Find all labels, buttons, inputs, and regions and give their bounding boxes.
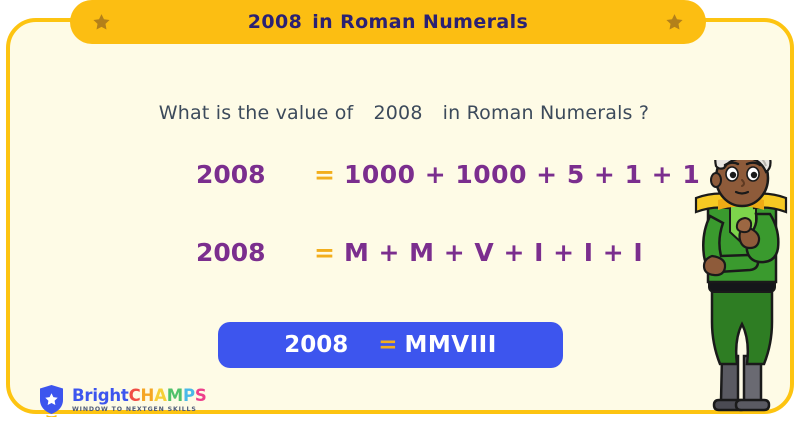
question-prefix: What is the value of	[159, 102, 354, 124]
answer-lhs: 2008	[284, 332, 348, 358]
equation-row-2: 2008 = M + M + V + I + I + I	[196, 238, 643, 267]
lesson-card: What is the value of2008in Roman Numeral…	[6, 18, 794, 414]
question-suffix: in Roman Numerals ?	[443, 102, 650, 124]
logo-wordmark: BrightCHAMPS	[72, 388, 207, 405]
brightchamps-logo: BrightCHAMPS WINDOW TO NEXTGEN SKILLS	[38, 384, 207, 417]
answer-rhs: MMVIII	[405, 332, 497, 358]
logo-h: H	[141, 386, 155, 405]
question-number: 2008	[373, 102, 422, 124]
star-icon-left	[92, 13, 111, 32]
logo-text-block: BrightCHAMPS WINDOW TO NEXTGEN SKILLS	[72, 388, 207, 414]
logo-s: S	[195, 386, 207, 405]
logo-p: P	[183, 386, 195, 405]
star-icon-right	[665, 13, 684, 32]
logo-c: C	[129, 386, 141, 405]
logo-a: A	[154, 386, 167, 405]
equation-2-rhs: M + M + V + I + I + I	[344, 238, 643, 267]
equation-1-equals: =	[314, 160, 335, 189]
shield-star-icon	[38, 384, 65, 417]
answer-equals: =	[378, 332, 397, 358]
question-line: What is the value of2008in Roman Numeral…	[10, 102, 798, 124]
answer-box: 2008 = MMVIII	[218, 322, 563, 368]
equation-2-lhs: 2008	[196, 238, 314, 267]
logo-m: M	[167, 386, 183, 405]
equation-row-1: 2008 = 1000 + 1000 + 5 + 1 + 1 + 1	[196, 160, 758, 189]
logo-bright: Bright	[72, 386, 129, 405]
logo-tagline: WINDOW TO NEXTGEN SKILLS	[72, 407, 207, 413]
page-root: What is the value of2008in Roman Numeral…	[0, 0, 800, 422]
thinking-character-illustration	[682, 160, 800, 422]
page-title: 2008in Roman Numerals	[111, 11, 665, 33]
equation-1-lhs: 2008	[196, 160, 314, 189]
title-banner: 2008in Roman Numerals	[70, 0, 706, 44]
title-suffix: in Roman Numerals	[312, 11, 528, 33]
title-number: 2008	[248, 11, 302, 33]
equation-2-equals: =	[314, 238, 335, 267]
